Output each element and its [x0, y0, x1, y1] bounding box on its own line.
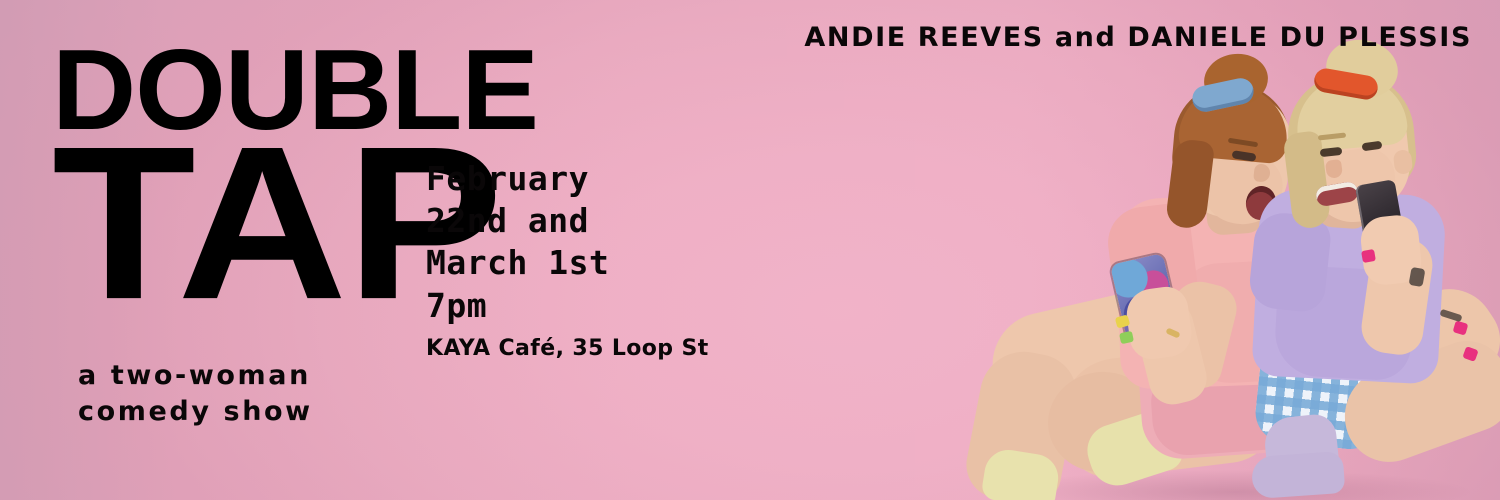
performer-left-hand — [1123, 284, 1194, 362]
performer-right-nail-1 — [1361, 249, 1376, 263]
performer-right-tshirt-sleeve — [1247, 210, 1333, 313]
performer-credits: ANDIE REEVES and DANIELE DU PLESSIS — [804, 22, 1472, 53]
event-details: February 22nd and March 1st 7pm KAYA Caf… — [426, 158, 709, 361]
photo-contact-shadow — [1000, 470, 1470, 500]
performers-photo — [970, 0, 1500, 500]
event-venue: KAYA Café, 35 Loop St — [426, 336, 709, 361]
promo-banner: ANDIE REEVES and DANIELE DU PLESSIS DOUB… — [0, 0, 1500, 500]
tagline-line-2: comedy show — [78, 394, 313, 430]
event-time: 7pm — [426, 285, 709, 327]
tagline-line-1: a two-woman — [78, 358, 313, 394]
event-date-line-1: February — [426, 158, 709, 200]
event-date-line-3: March 1st — [426, 242, 709, 284]
event-date-line-2: 22nd and — [426, 200, 709, 242]
performer-right-foot — [1251, 451, 1346, 499]
show-tagline: a two-woman comedy show — [78, 358, 313, 431]
